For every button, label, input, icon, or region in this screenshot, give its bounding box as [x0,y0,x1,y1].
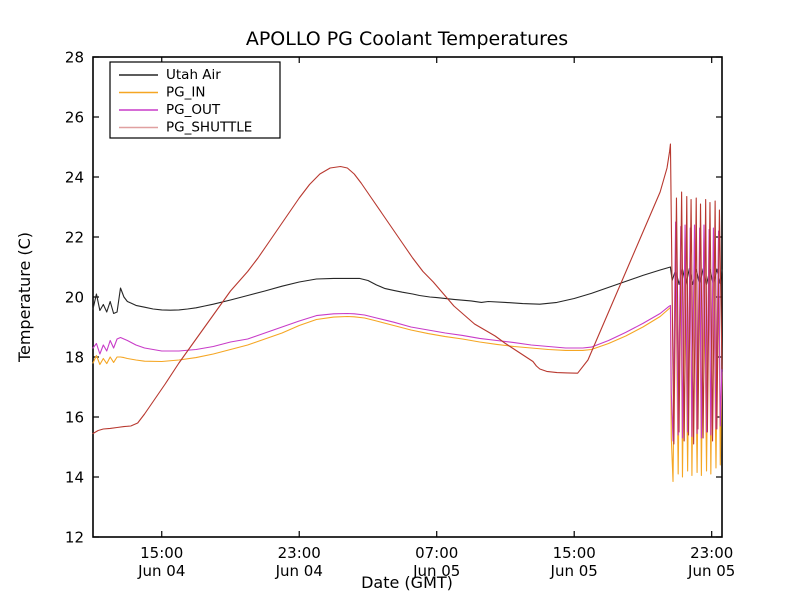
series-line-pg-in [93,237,722,482]
x-axis-label: Date (GMT) [361,573,453,592]
y-tick-label: 24 [65,169,84,187]
x-tick-label-date: Jun 05 [687,562,735,580]
chart-plot: APOLLO PG Coolant Temperatures 121416182… [0,0,800,600]
series-line-pg-out [93,222,722,441]
series-line-pg-shuttle [93,144,722,444]
y-tick-label: 20 [65,289,84,307]
y-tick-label: 22 [65,229,84,247]
y-tick-label: 12 [65,529,84,547]
y-axis-label: Temperature (C) [15,232,34,363]
legend-label-utah-air[interactable]: Utah Air [166,67,221,83]
y-tick-label: 28 [65,49,84,67]
x-tick-label-time: 07:00 [415,544,458,562]
x-tick-label-time: 15:00 [140,544,183,562]
x-tick-label-date: Jun 04 [137,562,185,580]
data-series-group [93,144,722,482]
series-line-utah-air [93,267,722,314]
chart-legend[interactable]: Utah AirPG_INPG_OUTPG_SHUTTLE [110,62,280,138]
legend-label-pg-out[interactable]: PG_OUT [166,102,221,118]
y-tick-label: 16 [65,409,84,427]
y-tick-label: 18 [65,349,84,367]
x-tick-label-date: Jun 05 [550,562,598,580]
figure-canvas: APOLLO PG Coolant Temperatures 121416182… [0,0,800,600]
legend-label-pg-in[interactable]: PG_IN [166,85,205,101]
legend-label-pg-shuttle[interactable]: PG_SHUTTLE [166,120,252,136]
y-tick-label: 26 [65,109,84,127]
x-tick-label-date: Jun 04 [275,562,323,580]
chart-title: APOLLO PG Coolant Temperatures [246,28,568,50]
x-tick-label-time: 23:00 [690,544,733,562]
y-tick-label: 14 [65,469,84,487]
x-tick-label-time: 15:00 [553,544,596,562]
x-tick-label-time: 23:00 [278,544,321,562]
